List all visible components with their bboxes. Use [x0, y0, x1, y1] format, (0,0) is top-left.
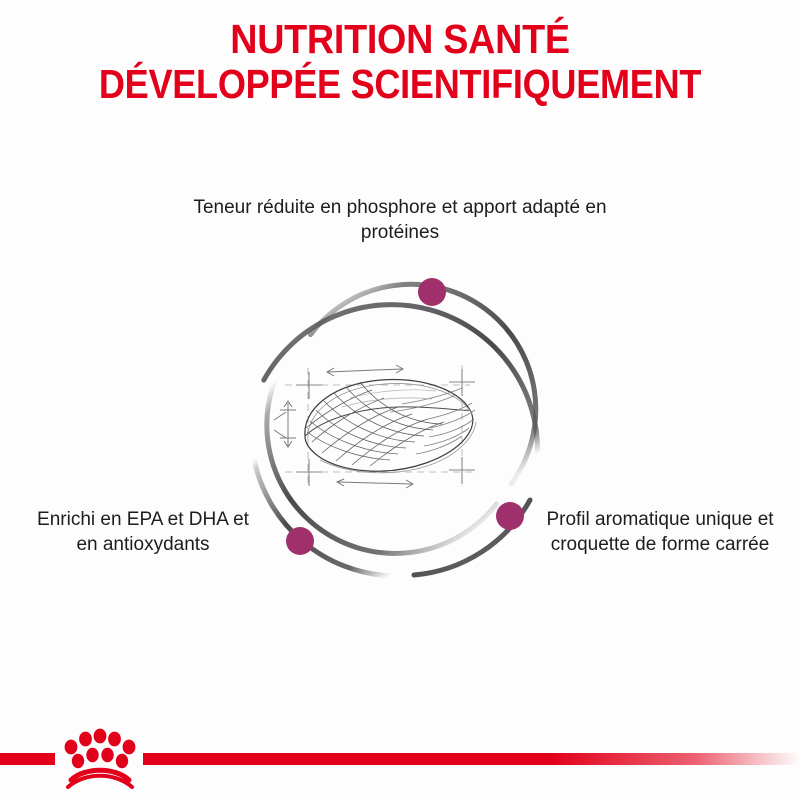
circular-diagram-svg — [230, 260, 570, 600]
page-title: NUTRITION SANTÉ DÉVELOPPÉE SCIENTIFIQUEM… — [0, 18, 800, 107]
royal-canin-crown-logo — [0, 708, 800, 800]
kibble-technical-sketch — [274, 365, 478, 488]
crown-dots-upper — [65, 729, 136, 755]
callout-label-phosphore: Teneur réduite en phosphore et apport ad… — [190, 196, 610, 245]
outer-arc-lower-left — [254, 459, 390, 576]
crown-base-arcs — [68, 770, 132, 787]
callout-marker-epa-dha[interactable] — [286, 527, 314, 555]
footer — [0, 708, 800, 800]
callout-label-epa-dha: Enrichi en EPA et DHA et en antioxydants — [28, 508, 258, 557]
circular-diagram — [230, 260, 570, 600]
page-title-line-2: DÉVELOPPÉE SCIENTIFIQUEMENT — [48, 63, 752, 106]
callout-label-profil-aromatique: Profil aromatique unique et croquette de… — [540, 508, 780, 557]
page-title-line-1: NUTRITION SANTÉ — [32, 18, 768, 61]
callout-marker-profil-aromatique[interactable] — [496, 502, 524, 530]
callout-marker-phosphore[interactable] — [418, 278, 446, 306]
crown-dots-lower — [72, 748, 128, 768]
footer-bar-right — [143, 753, 800, 765]
footer-bar-left — [0, 753, 55, 765]
promo-panel: NUTRITION SANTÉ DÉVELOPPÉE SCIENTIFIQUEM… — [0, 0, 800, 800]
